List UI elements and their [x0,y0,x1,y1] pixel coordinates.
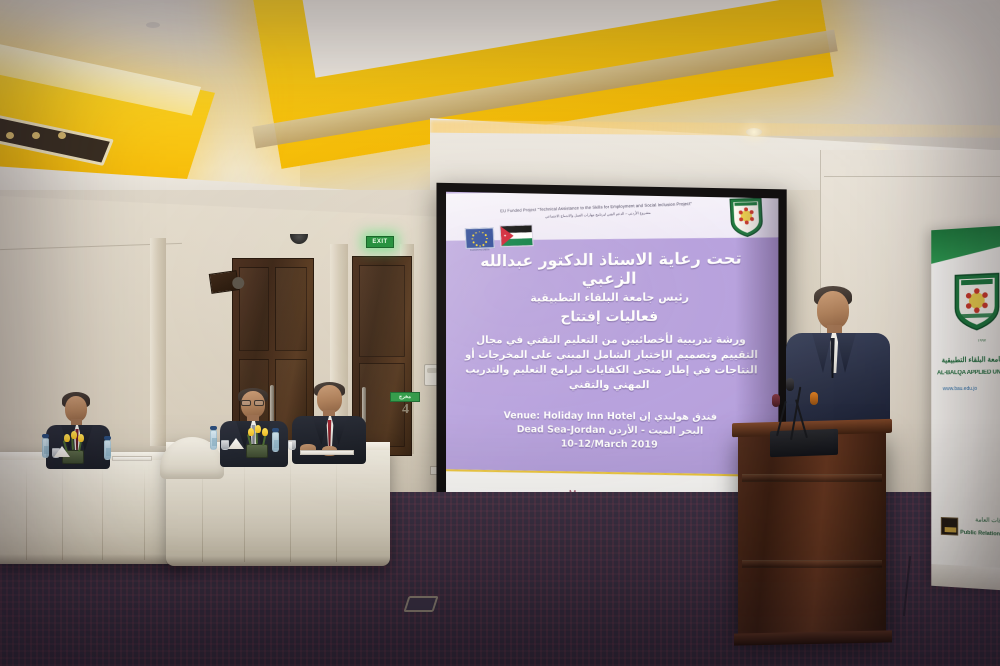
lectern-band-lower [742,560,882,568]
floor-cable-box [403,596,438,612]
banner-university-name-english: AL-BALQA APPLIED UNIVERSITY [937,369,1000,376]
lectern-band-upper [742,474,882,482]
tulip-2 [71,431,77,439]
slide-line-opening: فعاليات إفتتاح [458,308,766,326]
water-bottle-3[interactable] [210,430,217,450]
tulip-5 [255,425,261,433]
handheld-microphone-maroon[interactable] [772,394,780,407]
ceiling-spot-b [32,132,40,139]
speaker-head [817,291,849,329]
al-balqa-university-rollup-banner: ١٩٩٧ جامعة البلقاء التطبيقية AL-BALQA AP… [931,226,1000,591]
tulip-3 [78,434,84,442]
panelist-center-glasses-right-lens [254,400,264,406]
projected-slide: EU Funded Project "Technical Assistance … [446,192,778,522]
slide-dates: 10-12/March 2019 [458,437,766,455]
wall-pilaster-a [150,238,166,446]
slide-line-patronage: تحت رعاية الاستاذ الدكتور عبدالله الزعبي [458,249,766,290]
panelist-right-head [317,385,342,413]
slide-venue-line: Venue: Holiday Inn Hotel فندق هوليدي إن [458,409,766,426]
slide-venue-ar: فندق هوليدي إن [639,411,717,423]
projection-screen: EU Funded Project "Technical Assistance … [436,183,786,533]
wall-seam-b [824,176,1000,177]
door-left-panel-tr [275,267,307,351]
wooden-lectern [738,430,886,636]
exit-sign: EXIT [366,236,394,248]
banner-department-arabic: العلاقات العامة [960,516,1000,525]
tulip-6 [262,428,268,436]
slide-line-president: رئيس جامعة البلقاء التطبيقية [458,290,766,305]
wall-speaker [209,270,240,294]
banner-department-english: Public Relations [960,530,1000,539]
emergency-exit-sign-secondary: مخرج [390,392,420,402]
banner-website-url[interactable]: www.bau.edu.jo [943,386,1000,392]
tulip-1 [64,434,70,442]
banner-founding-year: ١٩٩٧ [958,337,1000,343]
room-number-label: 4 [402,402,409,418]
drinking-glass-2[interactable] [221,440,229,450]
ceiling-spot-a [6,132,14,139]
banner-university-name-arabic: جامعة البلقاء التطبيقية [937,355,1000,364]
handheld-microphone-orange[interactable] [810,392,818,405]
banner-university-shield-icon [952,270,1000,332]
document-papers-1[interactable] [112,456,152,461]
gooseneck-microphone[interactable] [786,378,794,391]
water-bottle-cap-3 [210,426,217,430]
water-bottle-cap-4 [272,428,279,432]
banner-department-emblem-icon [941,517,958,536]
water-bottle-2[interactable] [104,440,111,460]
slide-line-workshop: ورشة تدريبية لأخصائيين من التعليم التقني… [458,332,766,394]
water-bottle-1[interactable] [42,438,49,458]
door-right-panel-top [359,265,405,357]
slide-body: تحت رعاية الاستاذ الدكتور عبدالله الزعبي… [446,239,778,473]
conference-photo-scene: EXIT مخرج 4 EU Funded Project "Technical… [0,0,1000,666]
head-table-right-hem [166,556,390,566]
water-bottle-4[interactable] [272,432,279,452]
head-table-left-hem [0,554,190,564]
recessed-downlight-b [746,128,762,136]
tulip-4 [248,428,254,436]
slide-location-en: Dead Sea-Jordan [517,424,606,436]
banner-footer [931,564,1000,590]
slide-venue-block: Venue: Holiday Inn Hotel فندق هوليدي إن … [458,409,766,455]
water-bottle-cap-2 [104,436,111,440]
slide-venue-en: Venue: Holiday Inn Hotel [504,410,636,422]
al-balqa-university-shield-icon [728,196,765,238]
document-papers-2[interactable] [300,450,354,455]
ceiling-spot-c [58,132,66,139]
smoke-detector-icon [146,22,160,28]
panelist-center-glasses-left-lens [241,400,251,406]
slide-location-ar: البحر الميت - الأردن [609,425,704,437]
water-bottle-cap-1 [42,434,49,438]
banner-green-header [931,226,1000,264]
drinking-glass-3[interactable] [288,440,296,450]
